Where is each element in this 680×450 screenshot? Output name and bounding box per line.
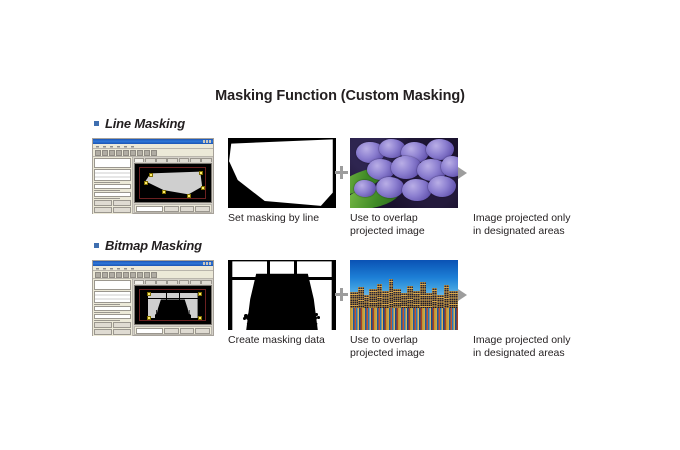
section-bitmap-masking: Bitmap Masking	[88, 236, 598, 365]
section-title: Line Masking	[105, 116, 185, 131]
step-caption: Image projected only in designated areas	[473, 212, 603, 237]
window-toolbar	[93, 271, 213, 279]
mask-edit-canvas	[134, 163, 212, 203]
window-title-bar	[93, 261, 213, 266]
play-triangle-icon	[458, 287, 472, 303]
step-caption: Use to overlap projected image	[350, 212, 475, 237]
mask-polygon-image	[228, 138, 336, 208]
page-title: Masking Function (Custom Masking)	[0, 88, 680, 104]
window-canvas-pane	[133, 157, 213, 214]
software-window-curtains	[92, 260, 214, 336]
step-caption: Create masking data	[228, 334, 353, 347]
software-window-polygon	[92, 138, 214, 214]
photo-city-skyline	[350, 260, 458, 330]
photo-hydrangea-masked	[473, 138, 581, 208]
plus-icon	[335, 287, 349, 303]
mask-edit-canvas	[134, 285, 212, 325]
step-caption: Set masking by line	[228, 212, 353, 225]
window-left-pane	[93, 279, 133, 336]
window-title-bar	[93, 139, 213, 144]
bullet-icon	[94, 243, 99, 248]
section-title: Bitmap Masking	[105, 238, 202, 253]
step-caption: Use to overlap projected image	[350, 334, 475, 359]
play-triangle-icon	[458, 165, 472, 181]
window-toolbar	[93, 149, 213, 157]
photo-city-skyline-masked	[473, 260, 581, 330]
window-canvas-pane	[133, 279, 213, 336]
section-header-line-masking: Line Masking	[88, 114, 598, 132]
plus-icon	[335, 165, 349, 181]
window-left-pane	[93, 157, 133, 214]
section-header-bitmap-masking: Bitmap Masking	[88, 236, 598, 254]
step-caption: Image projected only in designated areas	[473, 334, 603, 359]
step-row: Create masking data	[88, 260, 598, 365]
photo-hydrangea	[350, 138, 458, 208]
mask-window-image	[228, 260, 336, 330]
section-line-masking: Line Masking	[88, 114, 598, 243]
bullet-icon	[94, 121, 99, 126]
step-row: Set masking by line	[88, 138, 598, 243]
